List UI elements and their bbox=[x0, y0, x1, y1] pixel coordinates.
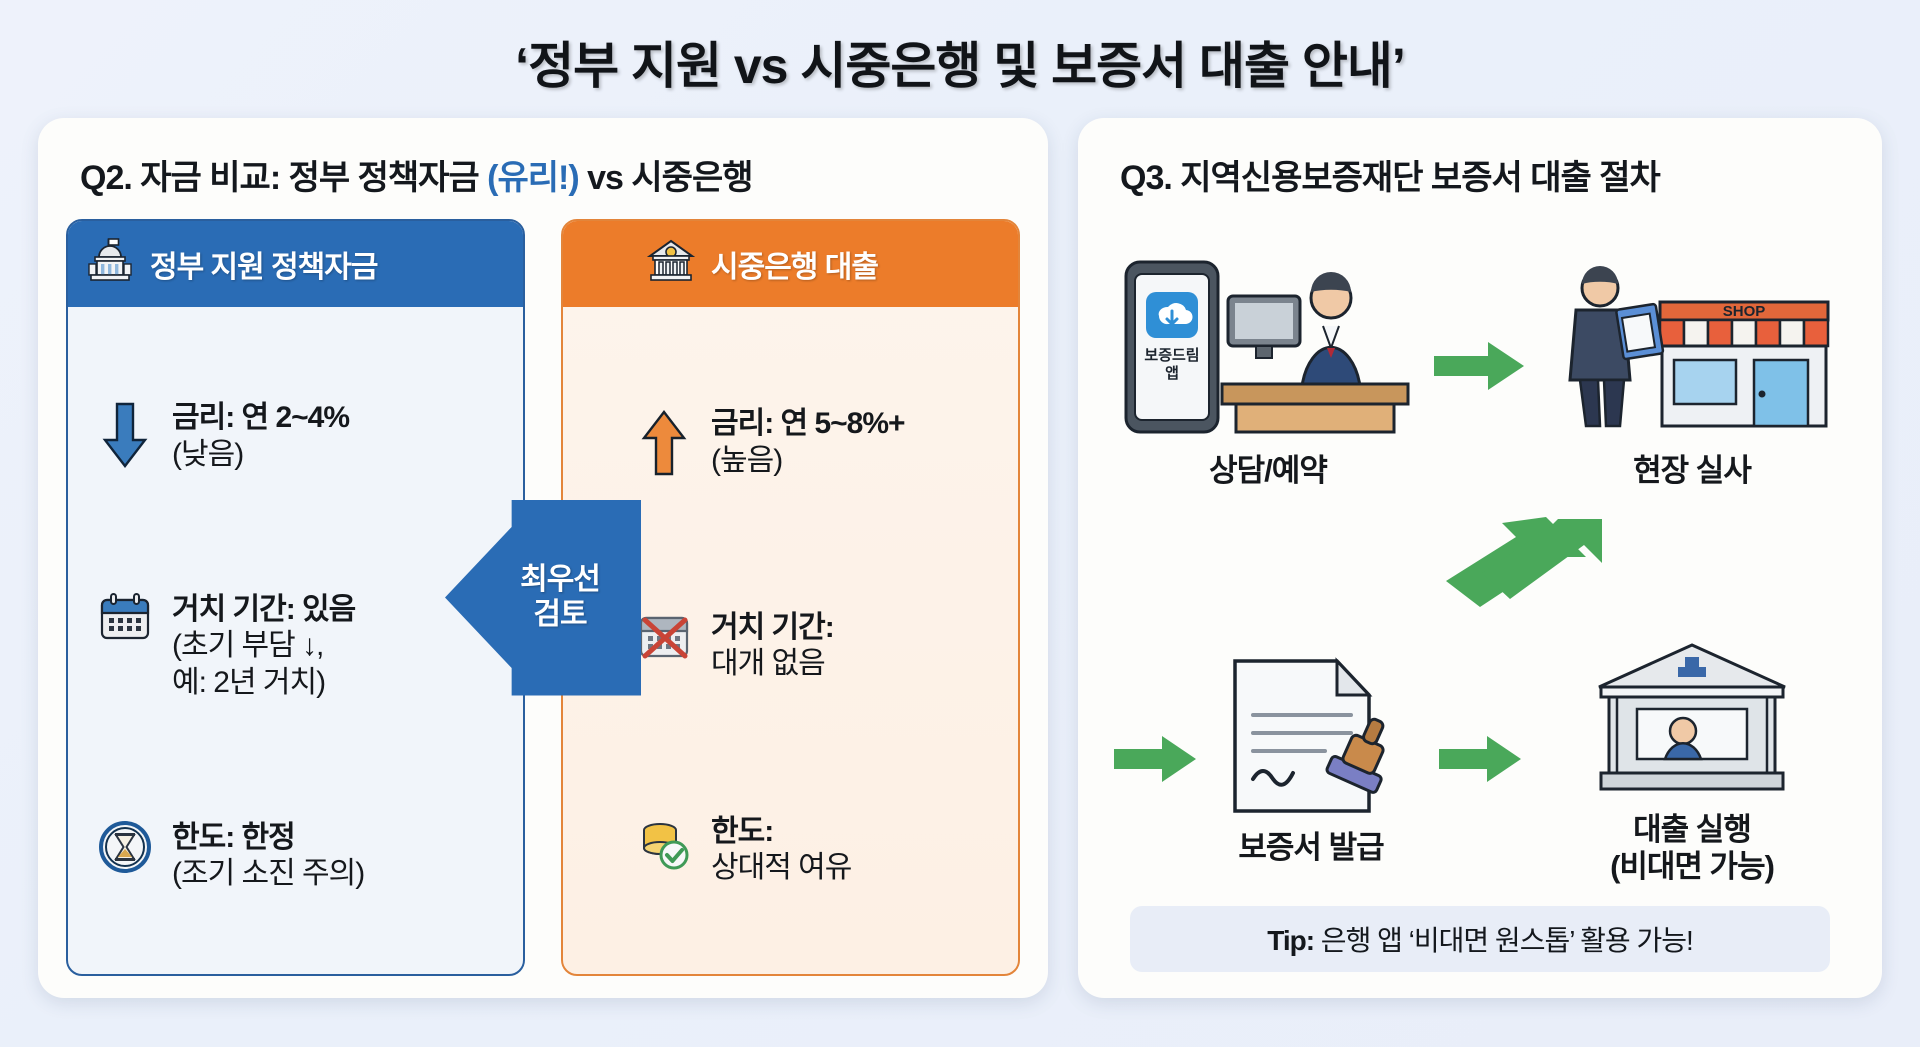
bank-row-limit: 한도: 상대적 여유 bbox=[585, 814, 996, 887]
q2-heading: Q2. 자금 비교: 정부 정책자금 (유리!) vs 시중은행 bbox=[80, 150, 1020, 199]
flow-step-4-label: 대출 실행 (비대면 가능) bbox=[1610, 811, 1774, 885]
gov-row-interest-text: 금리: 연 2~4% (낮음) bbox=[172, 400, 349, 473]
q2-heading-post: vs 시중은행 bbox=[579, 159, 753, 197]
arrow-down-blue-icon bbox=[96, 400, 154, 472]
bank-building-icon bbox=[647, 237, 695, 291]
calendar-icon bbox=[96, 592, 154, 644]
bank-card-title: 시중은행 대출 bbox=[711, 242, 878, 286]
government-card-header: 정부 지원 정책자금 bbox=[68, 221, 523, 307]
flow-step-consultation: 보증드림 앱 bbox=[1118, 244, 1418, 489]
arrow-right-icon bbox=[1432, 338, 1528, 394]
q2-heading-accent: (유리!) bbox=[487, 159, 579, 197]
calendar-crossed-icon bbox=[635, 610, 693, 662]
bank-card-header: 시중은행 대출 bbox=[563, 221, 1018, 307]
arrow-right-icon-3 bbox=[1437, 733, 1523, 785]
arrow-diagonal-down-left-icon bbox=[1330, 511, 1630, 615]
panel-q3: Q3. 지역신용보증재단 보증서 대출 절차 보증드림 앱 bbox=[1078, 118, 1882, 998]
bank-row-interest-text: 금리: 연 5~8%+ (높음) bbox=[711, 406, 905, 479]
flow-step-2-label: 현장 실사 bbox=[1633, 452, 1751, 489]
gov-row-interest: 금리: 연 2~4% (낮음) bbox=[90, 400, 501, 473]
svg-text:앱: 앱 bbox=[1165, 365, 1179, 382]
arrow-up-orange-icon bbox=[635, 406, 693, 478]
gov-row-grace-period: 거치 기간: 있음 (초기 부담 ↓, 예: 2년 거치) bbox=[90, 592, 501, 702]
coins-check-icon bbox=[635, 814, 693, 870]
q3-heading: Q3. 지역신용보증재단 보증서 대출 절차 bbox=[1120, 150, 1854, 199]
panels-container: Q2. 자금 비교: 정부 정책자금 (유리!) vs 시중은행 bbox=[0, 98, 1920, 998]
gov-row-grace-text: 거치 기간: 있음 (초기 부담 ↓, 예: 2년 거치) bbox=[172, 592, 355, 702]
field-inspection-icon: SHOP bbox=[1542, 244, 1842, 444]
bank-row-limit-text: 한도: 상대적 여유 bbox=[711, 814, 851, 887]
process-flow: 보증드림 앱 bbox=[1106, 219, 1854, 900]
bank-row-grace-period: 거치 기간: 대개 없음 bbox=[585, 610, 996, 683]
tip-banner: Tip: 은행 앱 ‘비대면 원스톱’ 활용 가능! bbox=[1130, 906, 1830, 972]
flow-step-certificate: 보증서 발급 bbox=[1205, 651, 1417, 866]
government-card-title: 정부 지원 정책자금 bbox=[150, 242, 377, 286]
flow-step-loan-execution: 대출 실행 (비대면 가능) bbox=[1579, 633, 1805, 885]
phone-consultant-icon: 보증드림 앱 bbox=[1118, 244, 1418, 444]
priority-badge-label: 최우선 검토 bbox=[486, 563, 600, 632]
flow-step-1-label: 상담/예약 bbox=[1209, 452, 1327, 489]
bank-row-grace-text: 거치 기간: 대개 없음 bbox=[711, 610, 834, 683]
page-title: ‘정부 지원 vs 시중은행 및 보증서 대출 안내’ bbox=[0, 0, 1920, 98]
certificate-stamp-icon bbox=[1205, 651, 1417, 821]
arrow-right-icon-2 bbox=[1112, 733, 1198, 785]
svg-text:보증드림: 보증드림 bbox=[1144, 346, 1199, 364]
svg-text:SHOP: SHOP bbox=[1723, 303, 1766, 320]
bank-row-interest: 금리: 연 5~8%+ (높음) bbox=[585, 406, 996, 479]
tip-prefix: Tip: bbox=[1267, 925, 1314, 956]
tip-text: 은행 앱 ‘비대면 원스톱’ 활용 가능! bbox=[1314, 925, 1693, 956]
priority-arrow-badge: 최우선 검토 bbox=[445, 500, 641, 696]
panel-q2: Q2. 자금 비교: 정부 정책자금 (유리!) vs 시중은행 bbox=[38, 118, 1048, 998]
bank-teller-icon bbox=[1579, 633, 1805, 803]
hourglass-icon bbox=[96, 820, 154, 874]
flow-step-field-inspection: SHOP bbox=[1542, 244, 1842, 489]
capitol-building-icon bbox=[86, 237, 134, 291]
gov-row-limit-text: 한도: 한정 (조기 소진 주의) bbox=[172, 820, 364, 893]
q2-heading-pre: Q2. 자금 비교: 정부 정책자금 bbox=[80, 159, 487, 197]
gov-row-limit: 한도: 한정 (조기 소진 주의) bbox=[90, 820, 501, 893]
comparison-area: 정부 지원 정책자금 금리: 연 2~4% (낮음) bbox=[66, 219, 1020, 976]
flow-step-3-label: 보증서 발급 bbox=[1238, 829, 1383, 866]
